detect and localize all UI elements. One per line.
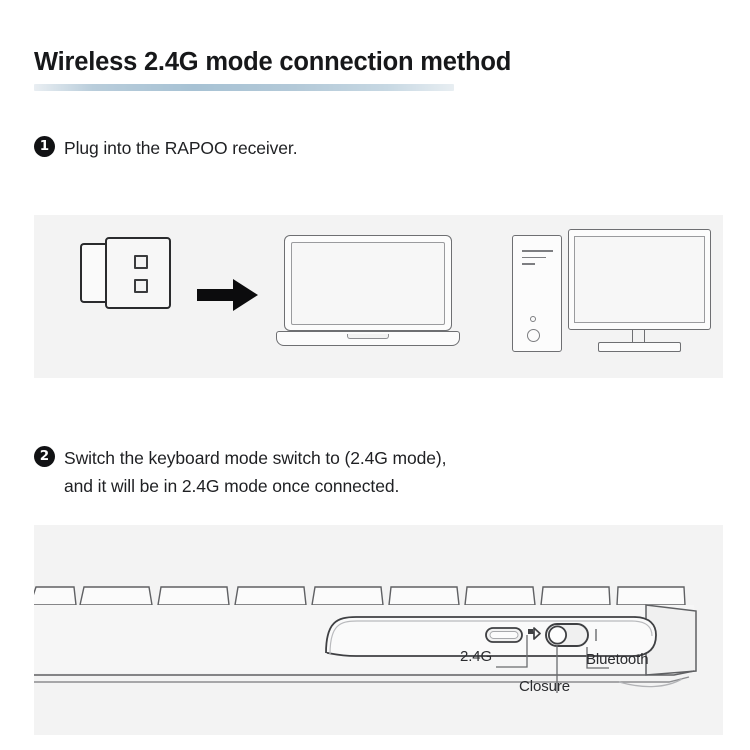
monitor-frame: [568, 229, 711, 330]
pc-vent-line: [522, 250, 553, 252]
step-2-number-badge: 2: [34, 446, 55, 467]
keyboard-foot-shadow: [619, 679, 682, 687]
keyboard-front-edge-lower: [34, 677, 689, 682]
step-2-text: Switch the keyboard mode switch to (2.4G…: [64, 444, 446, 500]
page-title: Wireless 2.4G mode connection method: [34, 48, 511, 77]
step-2: 2 Switch the keyboard mode switch to (2.…: [34, 444, 446, 500]
usb-contact-slot-top: [134, 255, 148, 269]
usb-c-port-inner: [490, 632, 518, 639]
usb-contact-slot-bottom: [134, 279, 148, 293]
laptop-lid: [284, 235, 452, 331]
callout-label-bluetooth: Bluetooth: [586, 651, 648, 668]
step-2-text-line-2: and it will be in 2.4G mode once connect…: [64, 472, 446, 500]
mode-slider-switch-knob[interactable]: [549, 626, 566, 643]
pc-power-button: [527, 329, 540, 342]
monitor-stand-base: [598, 342, 681, 352]
laptop-screen: [291, 242, 445, 325]
usb-connector-metal: [80, 243, 107, 303]
pc-vent-line: [522, 263, 535, 265]
step-1: 1 Plug into the RAPOO receiver.: [34, 134, 297, 162]
step-2-text-line-1: Switch the keyboard mode switch to (2.4G…: [64, 448, 446, 468]
title-underline-accent: [34, 84, 454, 91]
callout-label-24g: 2.4G: [460, 648, 492, 665]
keyboard-illustration-panel: [34, 525, 723, 735]
pc-tower: [512, 235, 562, 352]
devices-illustration-panel: [34, 215, 723, 378]
callout-label-closure: Closure: [519, 678, 570, 695]
usb-receiver-dongle: [80, 237, 172, 309]
laptop-computer: [276, 235, 460, 353]
keyboard-keycap-row: [34, 587, 685, 605]
pc-led-indicator: [530, 316, 536, 322]
laptop-trackpad-notch: [347, 334, 389, 339]
step-1-text: Plug into the RAPOO receiver.: [64, 134, 297, 162]
right-arrow-icon: [197, 278, 259, 312]
monitor-screen: [574, 236, 705, 323]
step-1-number-badge: 1: [34, 136, 55, 157]
usb-dongle-body: [105, 237, 171, 309]
wireless-keyboard-edge-view: [34, 525, 723, 735]
desktop-pc-and-monitor: [512, 229, 711, 359]
pc-vent-line: [522, 257, 546, 259]
